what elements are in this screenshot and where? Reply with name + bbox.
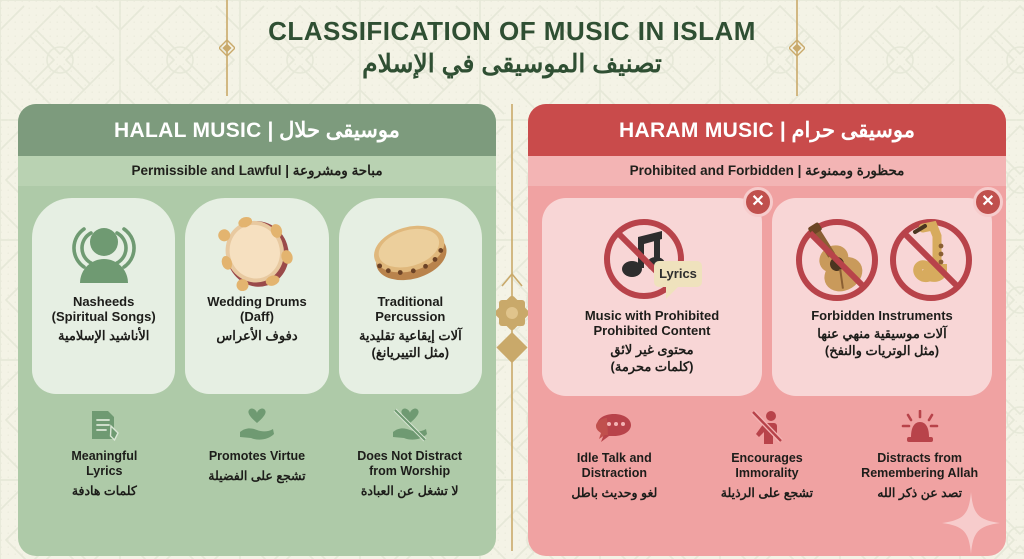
halal-card-row: Nasheeds (Spiritual Songs) الأناشيد الإس…	[18, 186, 496, 394]
label-ar-line-2: (مثل التييريانغ)	[359, 345, 462, 362]
feature-label-en: Encourages Immorality	[731, 451, 803, 481]
four-point-sparkle	[942, 492, 1000, 554]
halal-card-wedding-drums[interactable]: Wedding Drums (Daff) دفوف الأعراس	[185, 198, 328, 394]
halal-feature-does-not-distract[interactable]: Does Not Distract from Worship لا تشغل ع…	[338, 406, 482, 499]
feature-label-en: Distracts from Remembering Allah	[861, 451, 978, 481]
label-ar-line-1: محتوى غير لائق	[610, 342, 693, 359]
hand-heart-icon	[238, 406, 276, 442]
tambourine-daff-icon	[218, 212, 296, 292]
label-line-2: (Spiritual Songs)	[52, 309, 156, 324]
label-line-2: from Worship	[357, 464, 462, 479]
haram-panel-subtitle: محظورة وممنوعة | Prohibited and Forbidde…	[528, 156, 1006, 186]
halal-subtitle-text: مباحة ومشروعة | Permissible and Lawful	[131, 163, 382, 179]
label-line-2: Remembering Allah	[861, 466, 978, 481]
label-line-1: Idle Talk and	[577, 451, 652, 466]
page-title-english: CLASSIFICATION OF MUSIC IN ISLAM	[268, 17, 756, 46]
haram-panel-header: موسيقى حرام | HARAM MUSIC	[528, 104, 1006, 156]
page-header: CLASSIFICATION OF MUSIC IN ISLAM تصنيف ا…	[0, 0, 1024, 96]
label-line-2: (Daff)	[207, 309, 306, 324]
no-music-note-lyrics-icon: Lyrics	[596, 214, 708, 306]
halal-card-label-ar: دفوف الأعراس	[216, 328, 297, 345]
haram-card-prohibited-content[interactable]: ✕ Lyrics	[542, 198, 762, 396]
page-title-arabic: تصنيف الموسيقى في الإسلام	[362, 50, 662, 79]
label-ar-line-1: آلات إيقاعية تقليدية	[359, 328, 462, 345]
label-line-1: Does Not Distract	[357, 449, 462, 464]
label-line-2: Prohibited Content	[585, 323, 719, 338]
speech-bubbles-icon	[595, 408, 633, 444]
lyrics-bubble-label: Lyrics	[659, 266, 697, 281]
haram-card-label-ar: آلات موسيقية منهي عنها (مثل الوتريات وال…	[817, 326, 946, 360]
feature-label-ar: لا تشغل عن العبادة	[361, 483, 459, 499]
halal-feature-meaningful-lyrics[interactable]: Meaningful Lyrics كلمات هادفة	[32, 406, 176, 499]
feature-label-en: Does Not Distract from Worship	[357, 449, 462, 479]
center-divider-ornament	[496, 96, 528, 559]
haram-header-text: موسيقى حرام | HARAM MUSIC	[619, 118, 915, 143]
haram-card-forbidden-instruments[interactable]: ✕	[772, 198, 992, 396]
haram-card-row: ✕ Lyrics	[528, 186, 1006, 396]
label-line-2: Lyrics	[71, 464, 137, 479]
feature-label-ar: تشجع على الرذيلة	[721, 485, 813, 501]
feature-label-ar: كلمات هادفة	[72, 483, 137, 499]
no-guitar-saxophone-icon	[787, 214, 977, 306]
label-line-2: Percussion	[375, 309, 445, 324]
feature-label-en: Promotes Virtue	[209, 449, 305, 464]
label-line-1: Promotes Virtue	[209, 449, 305, 464]
halal-header-text: موسيقى حلال | HALAL MUSIC	[114, 118, 400, 143]
haram-feature-encourages-immorality[interactable]: Encourages Immorality تشجع على الرذيلة	[695, 408, 839, 501]
halal-card-label-en: Traditional Percussion	[375, 294, 445, 325]
halal-card-label-en: Nasheeds (Spiritual Songs)	[52, 294, 156, 325]
label-line-1: Distracts from	[861, 451, 978, 466]
haram-card-label-en: Forbidden Instruments	[811, 308, 953, 323]
close-icon: ✕	[743, 187, 773, 217]
person-soundwaves-icon	[67, 212, 141, 292]
alarm-siren-icon	[901, 408, 939, 444]
label-line-1: Forbidden Instruments	[811, 308, 953, 323]
label-line-1: Nasheeds	[52, 294, 156, 309]
haram-feature-idle-talk[interactable]: Idle Talk and Distraction لغو وحديث باطل	[542, 408, 686, 501]
person-crossed-icon	[750, 408, 784, 444]
feature-label-en: Idle Talk and Distraction	[577, 451, 652, 481]
halal-panel-header: موسيقى حلال | HALAL MUSIC	[18, 104, 496, 156]
halal-card-label-en: Wedding Drums (Daff)	[207, 294, 306, 325]
frame-drum-icon	[368, 212, 452, 292]
document-pencil-icon	[87, 406, 121, 442]
halal-feature-promotes-virtue[interactable]: Promotes Virtue تشجع على الفضيلة	[185, 406, 329, 499]
label-line-2: Distraction	[577, 466, 652, 481]
haram-subtitle-text: محظورة وممنوعة | Prohibited and Forbidde…	[630, 163, 905, 179]
label-ar-line-1: آلات موسيقية منهي عنها	[817, 326, 946, 343]
label-ar-line-2: (كلمات محرمة)	[610, 359, 693, 376]
feature-label-en: Meaningful Lyrics	[71, 449, 137, 479]
label-line-1: Traditional	[375, 294, 445, 309]
feature-label-ar: لغو وحديث باطل	[571, 485, 657, 501]
label-ar-line-2: (مثل الوتريات والنفخ)	[817, 343, 946, 360]
halal-feature-row: Meaningful Lyrics كلمات هادفة Promotes V…	[18, 394, 496, 499]
halal-panel: موسيقى حلال | HALAL MUSIC مباحة ومشروعة …	[18, 104, 496, 556]
label-line-1: Music with Prohibited	[585, 308, 719, 323]
halal-panel-subtitle: مباحة ومشروعة | Permissible and Lawful	[18, 156, 496, 186]
label-line-1: Meaningful	[71, 449, 137, 464]
feature-label-ar: تشجع على الفضيلة	[208, 468, 305, 484]
haram-feature-row: Idle Talk and Distraction لغو وحديث باطل…	[528, 396, 1006, 501]
halal-card-traditional-percussion[interactable]: Traditional Percussion آلات إيقاعية تقلي…	[339, 198, 482, 394]
label-line-2: Immorality	[731, 466, 803, 481]
haram-feature-distracts-from-dhikr[interactable]: Distracts from Remembering Allah تصد عن …	[848, 408, 992, 501]
halal-card-nasheeds[interactable]: Nasheeds (Spiritual Songs) الأناشيد الإس…	[32, 198, 175, 394]
label-line-1: Encourages	[731, 451, 803, 466]
haram-panel: موسيقى حرام | HARAM MUSIC محظورة وممنوعة…	[528, 104, 1006, 556]
halal-card-label-ar: الأناشيد الإسلامية	[58, 328, 149, 345]
close-icon: ✕	[973, 187, 1003, 217]
haram-card-label-ar: محتوى غير لائق (كلمات محرمة)	[610, 342, 693, 376]
halal-card-label-ar: آلات إيقاعية تقليدية (مثل التييريانغ)	[359, 328, 462, 362]
hand-heart-crossed-icon	[391, 406, 429, 442]
label-line-1: Wedding Drums	[207, 294, 306, 309]
infographic-canvas: CLASSIFICATION OF MUSIC IN ISLAM تصنيف ا…	[0, 0, 1024, 559]
haram-card-label-en: Music with Prohibited Prohibited Content	[585, 308, 719, 339]
